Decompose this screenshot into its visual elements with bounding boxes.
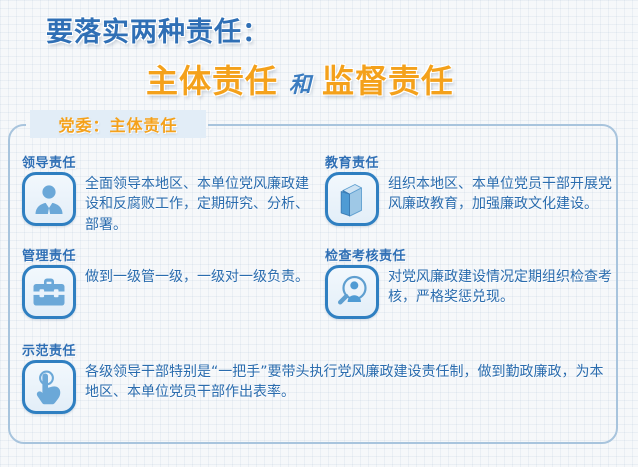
item-text: 全面领导本地区、本单位党风廉政建设和反腐败工作，定期研究、分析、部署。 bbox=[85, 172, 312, 235]
item-text: 对党风廉政建设情况定期组织检查考核，严格奖惩兑现。 bbox=[388, 265, 617, 308]
responsibility-item-shifan: 示范责任 各级领导干部特别是“一把手”要带头执行党风廉政建设责任制，做到勤政廉政… bbox=[22, 340, 614, 414]
responsibility-item-guanli: 管理责任 做到一级管一级，一级对一级负责。 bbox=[22, 245, 312, 319]
briefcase-icon bbox=[22, 265, 76, 319]
person-icon bbox=[22, 172, 76, 226]
item-text: 做到一级管一级，一级对一级负责。 bbox=[85, 265, 309, 287]
item-title: 管理责任 bbox=[22, 245, 312, 264]
responsibility-item-jiaoyu: 教育责任 组织本地区、本单位党员干部开展党风廉政教育，加强廉政文化建设。 bbox=[325, 152, 617, 226]
book-icon bbox=[325, 172, 379, 226]
headline-line-1: 要落实两种责任： bbox=[0, 10, 638, 49]
panel-badge-label: 党委：主体责任 bbox=[58, 112, 177, 136]
headline-conjunction: 和 bbox=[289, 67, 311, 99]
item-text: 组织本地区、本单位党员干部开展党风廉政教育，加强廉政文化建设。 bbox=[388, 172, 617, 215]
item-title: 领导责任 bbox=[22, 152, 312, 171]
item-title: 检查考核责任 bbox=[325, 245, 617, 264]
responsibility-item-lingdao: 领导责任 全面领导本地区、本单位党风廉政建设和反腐败工作，定期研究、分析、部署。 bbox=[22, 152, 312, 235]
headline-main-right: 监督责任 bbox=[322, 56, 454, 102]
headline: 要落实两种责任： 主体责任 和 监督责任 bbox=[0, 10, 638, 102]
magnifier-person-icon bbox=[325, 265, 379, 319]
item-text: 各级领导干部特别是“一把手”要带头执行党风廉政建设责任制，做到勤政廉政，为本地区… bbox=[85, 360, 605, 403]
item-title: 教育责任 bbox=[325, 152, 617, 171]
panel-badge: 党委：主体责任 bbox=[30, 110, 206, 138]
item-title: 示范责任 bbox=[22, 340, 614, 359]
headline-line-2: 主体责任 和 监督责任 bbox=[0, 56, 638, 102]
headline-main-left: 主体责任 bbox=[146, 56, 278, 102]
hand-tap-icon bbox=[22, 360, 76, 414]
responsibility-item-jiancha: 检查考核责任 对党风廉政建设情况定期组织检查考核，严格奖惩兑现。 bbox=[325, 245, 617, 319]
